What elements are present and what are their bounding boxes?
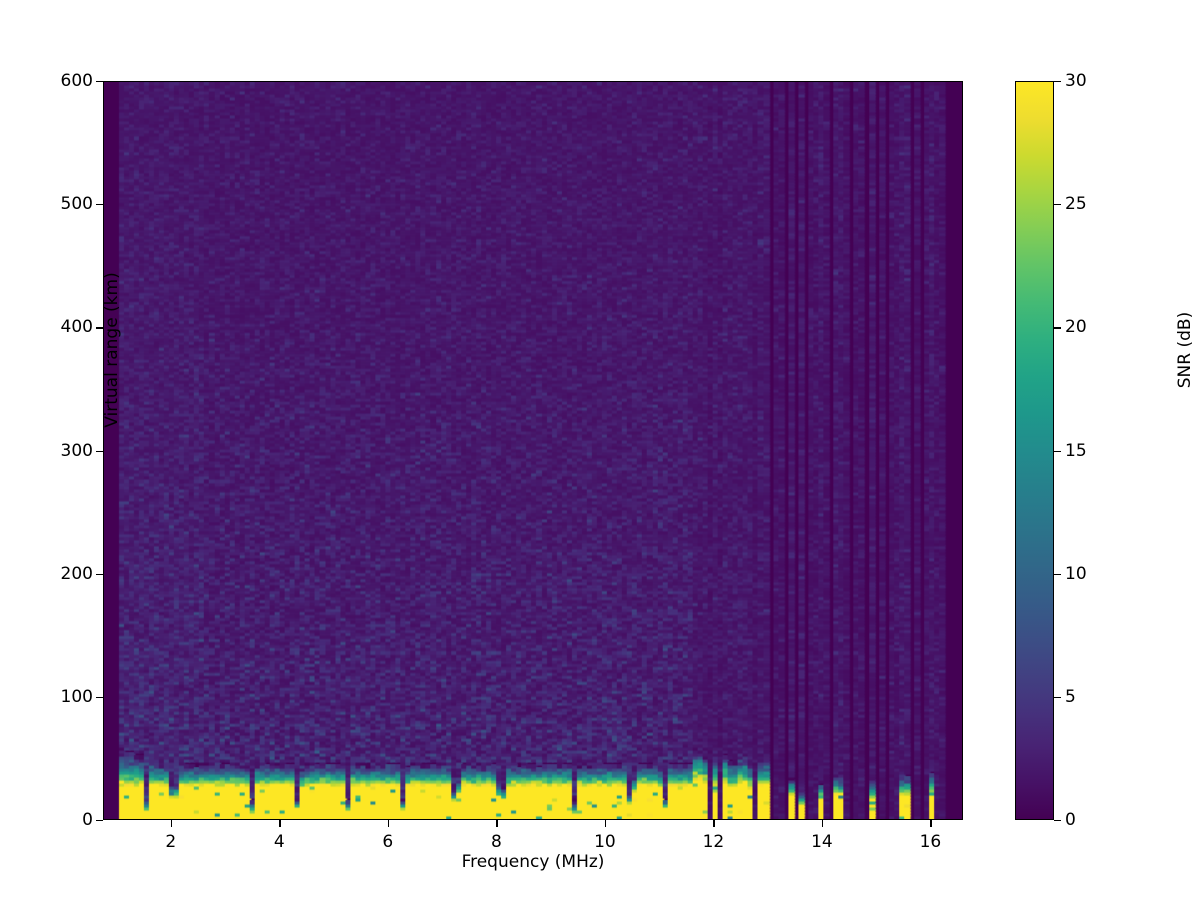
- x-tick-label: 8: [466, 832, 526, 852]
- colorbar-label: SNR (dB): [1175, 230, 1195, 470]
- x-tick-label: 4: [249, 832, 309, 852]
- colorbar-gradient: [1016, 82, 1053, 819]
- colorbar-tick-mark: [1054, 204, 1061, 205]
- x-tick-mark: [171, 820, 172, 827]
- x-tick-label: 14: [792, 832, 852, 852]
- x-tick-label: 12: [683, 832, 743, 852]
- y-tick-label: 600: [0, 71, 103, 91]
- y-tick-mark: [96, 81, 103, 82]
- y-axis-ticks: 0100200300400500600: [0, 0, 103, 900]
- colorbar-tick-mark: [1054, 451, 1061, 452]
- ionogram-heatmap-canvas: [104, 82, 962, 819]
- colorbar-tick-mark: [1054, 697, 1061, 698]
- x-tick-mark: [605, 820, 606, 827]
- colorbar-tick-label: 30: [1065, 71, 1087, 91]
- colorbar-tick-label: 10: [1065, 564, 1087, 584]
- x-tick-mark: [822, 820, 823, 827]
- x-tick-mark: [388, 820, 389, 827]
- colorbar-tick-label: 20: [1065, 317, 1087, 337]
- ionogram-plot-area[interactable]: [103, 81, 963, 820]
- x-tick-mark: [713, 820, 714, 827]
- y-tick-label: 300: [0, 441, 103, 461]
- colorbar-tick-mark: [1054, 574, 1061, 575]
- colorbar-tick-label: 5: [1065, 687, 1076, 707]
- x-tick-label: 2: [141, 832, 201, 852]
- x-tick-mark: [496, 820, 497, 827]
- colorbar-tick-label: 15: [1065, 441, 1087, 461]
- x-tick-mark: [279, 820, 280, 827]
- x-tick-mark: [930, 820, 931, 827]
- y-tick-label: 200: [0, 564, 103, 584]
- colorbar-tick-mark: [1054, 820, 1061, 821]
- colorbar-tick-mark: [1054, 327, 1061, 328]
- y-tick-mark: [96, 204, 103, 205]
- colorbar-ticks: 051015202530: [1054, 0, 1194, 900]
- y-tick-label: 400: [0, 317, 103, 337]
- colorbar-tick-mark: [1054, 81, 1061, 82]
- colorbar: [1015, 81, 1054, 820]
- x-axis-label: Frequency (MHz): [103, 852, 963, 872]
- y-tick-label: 500: [0, 194, 103, 214]
- y-tick-mark: [96, 574, 103, 575]
- colorbar-tick-label: 0: [1065, 810, 1076, 830]
- y-tick-label: 100: [0, 687, 103, 707]
- y-tick-mark: [96, 697, 103, 698]
- x-tick-label: 10: [575, 832, 635, 852]
- ionogram-figure: IRF Kiruna Ionosonde KI167 2026-01-21 17…: [0, 0, 1200, 900]
- y-axis-label: Virtual range (km): [102, 230, 122, 470]
- x-tick-label: 6: [358, 832, 418, 852]
- colorbar-tick-label: 25: [1065, 194, 1087, 214]
- x-tick-label: 16: [900, 832, 960, 852]
